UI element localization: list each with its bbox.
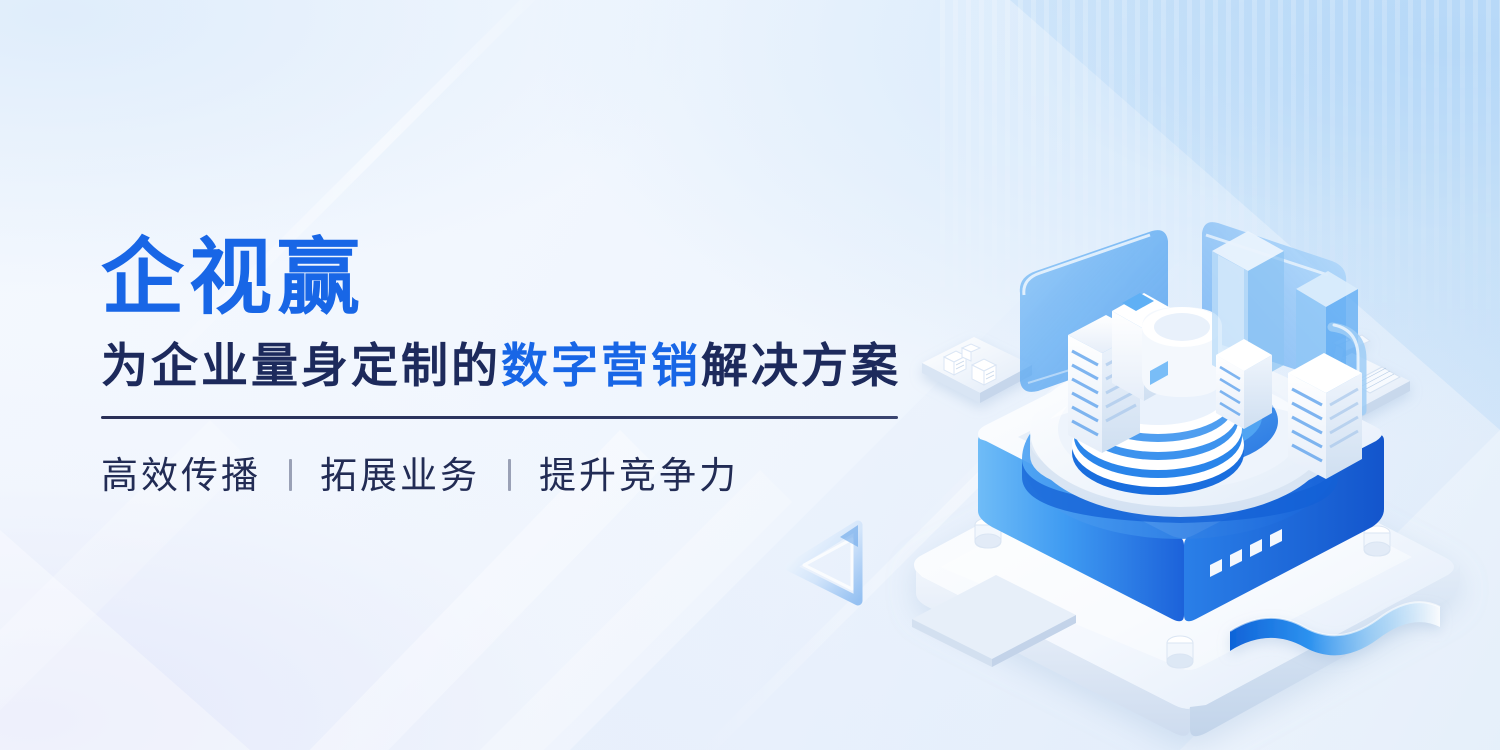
brand-title: 企视赢 <box>101 236 925 319</box>
smart-city-illustration <box>900 215 1470 685</box>
floating-city-tile <box>922 337 1032 403</box>
floating-robot-arm-tile <box>1300 335 1410 419</box>
base-plate <box>914 423 1460 736</box>
led-3 <box>1250 539 1262 557</box>
glass-triangle <box>816 491 890 565</box>
city-towers <box>1068 231 1362 495</box>
led-2 <box>1230 549 1242 567</box>
hero-text-block: 企视赢 为企业量身定制的数字营销解决方案 高效传播 拓展业务 提升竞争力 <box>95 236 925 494</box>
glass-pipe <box>1332 327 1362 411</box>
tower-striped-left <box>1068 315 1140 453</box>
tagline-item-1: 高效传播 <box>101 457 261 494</box>
headline-divider <box>101 416 898 419</box>
disc-stack <box>1072 357 1244 495</box>
bg-corner-wash <box>1010 0 1500 430</box>
peg-left <box>975 518 1001 548</box>
tagline-row: 高效传播 拓展业务 提升竞争力 <box>101 457 925 494</box>
glass-pipe-hl <box>1334 325 1358 407</box>
tower-striped-right <box>1288 353 1362 479</box>
tagline-separator-1 <box>289 459 292 491</box>
glass-backdrop-panel <box>1020 222 1346 392</box>
headline-lead: 为企业量身定制的 <box>101 339 501 392</box>
glass-triangle-decor <box>780 515 880 610</box>
peg-right <box>1364 526 1390 556</box>
wave-ribbon <box>1230 602 1440 655</box>
bg-triangle-lower-right <box>1180 430 1500 750</box>
tagline-separator-2 <box>508 459 511 491</box>
inner-box <box>978 330 1384 621</box>
bg-streak-3 <box>900 260 1192 540</box>
headline-trail: 解决方案 <box>701 339 901 392</box>
peg-front <box>1167 636 1193 668</box>
tagline-item-3: 提升竞争力 <box>539 457 739 494</box>
led-4 <box>1270 529 1282 547</box>
led-indicators <box>1210 529 1282 577</box>
headline: 为企业量身定制的数字营销解决方案 <box>101 341 925 392</box>
bg-wedge-lower-left <box>0 530 250 750</box>
hero-banner: 企视赢 为企业量身定制的数字营销解决方案 高效传播 拓展业务 提升竞争力 <box>0 0 1500 750</box>
base-plate-tab <box>912 575 1076 667</box>
bg-chevron-2 <box>430 470 792 750</box>
tagline-item-2: 拓展业务 <box>320 457 480 494</box>
cylinder-tank <box>1142 307 1222 397</box>
circular-dais <box>1022 355 1338 539</box>
tower-block-left <box>1112 293 1176 401</box>
tower-glass-center <box>1212 231 1284 385</box>
headline-highlight: 数字营销 <box>501 339 701 392</box>
led-1 <box>1210 559 1222 577</box>
corner-pegs <box>975 518 1390 668</box>
tower-striped-center <box>1216 339 1272 429</box>
tower-glass-right <box>1296 271 1358 413</box>
background-pinstripes <box>940 0 1500 420</box>
